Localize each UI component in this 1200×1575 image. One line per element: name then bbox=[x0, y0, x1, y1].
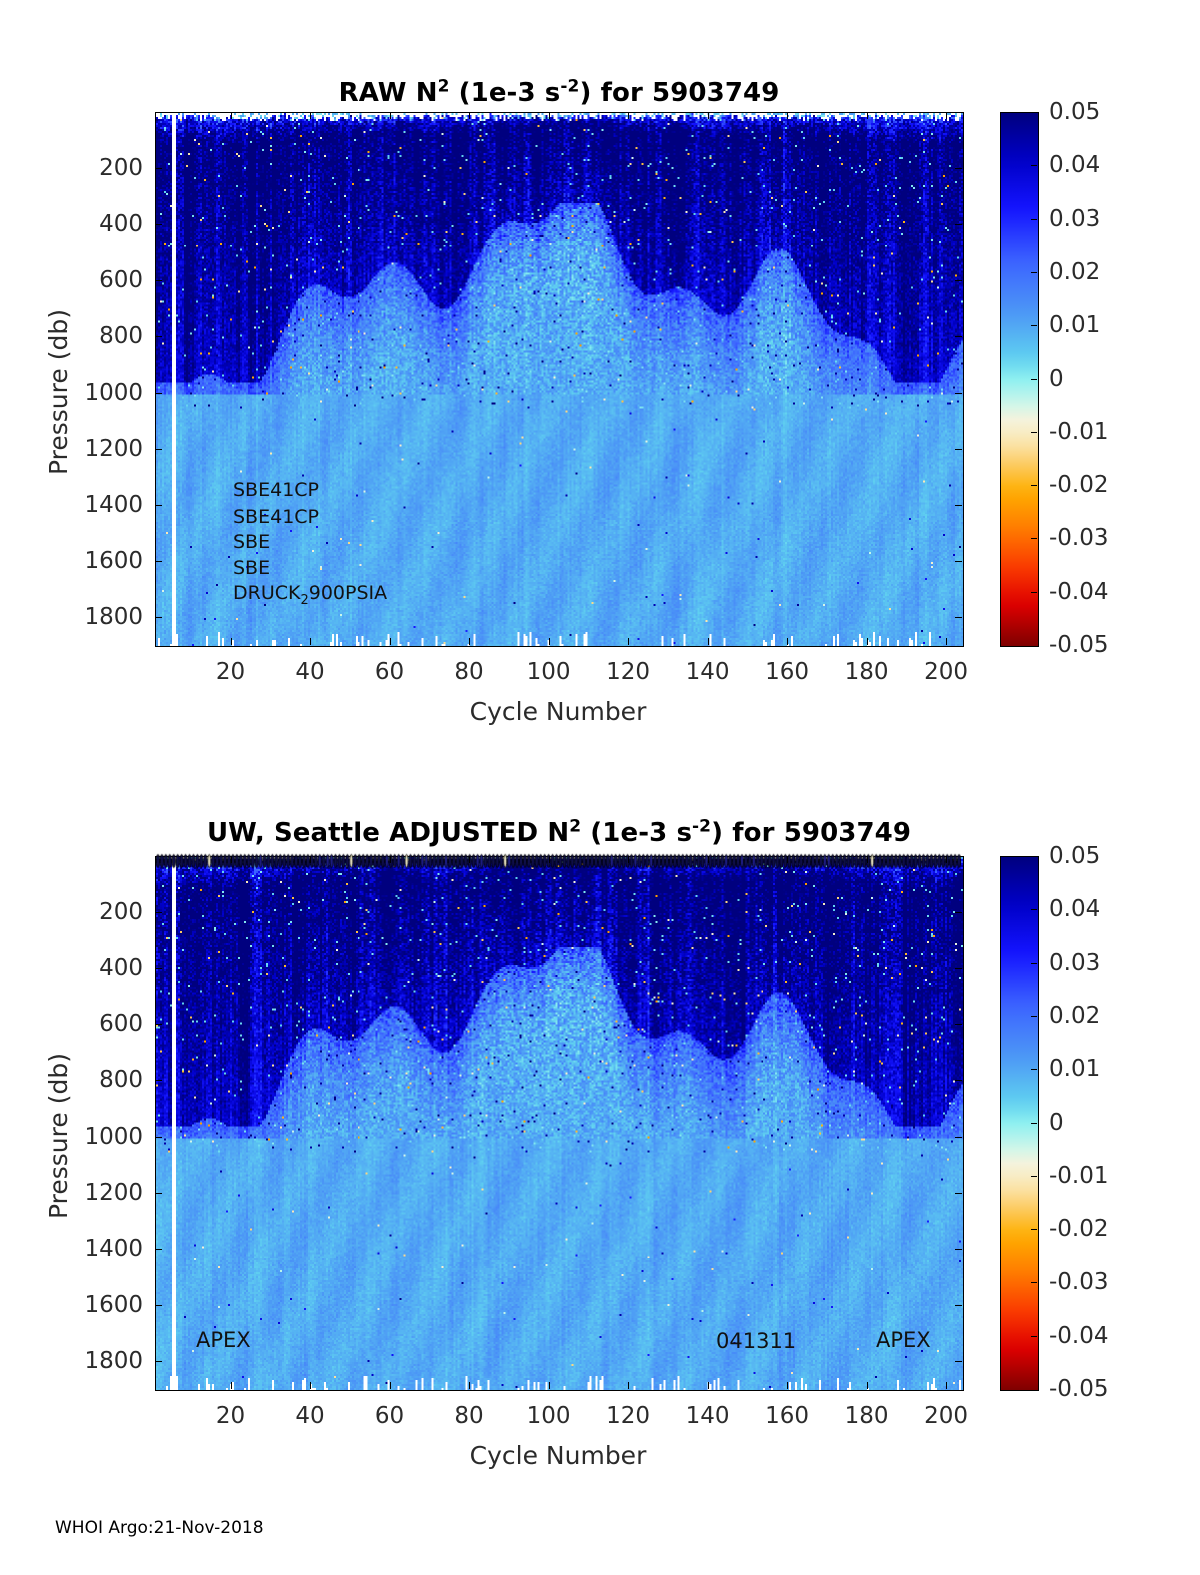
raw-y-tick-mark-400 bbox=[955, 224, 962, 225]
adj-x-tick-mark-140 bbox=[708, 1382, 709, 1389]
adj-colorbar-tick-label-0: 0.05 bbox=[1049, 843, 1100, 869]
raw-y-tick-mark-200 bbox=[155, 168, 162, 169]
adj-x-tick-label-200: 200 bbox=[924, 1403, 968, 1429]
adj-y-tick-label-400: 400 bbox=[3, 955, 143, 981]
adj-colorbar-tick-mark-7 bbox=[1031, 1229, 1037, 1230]
adj-y-tick-label-1600: 1600 bbox=[3, 1292, 143, 1318]
adj-y-tick-label-1400: 1400 bbox=[3, 1236, 143, 1262]
adj-colorbar-tick-label-10: -0.05 bbox=[1049, 1376, 1109, 1402]
adj-x-tick-mark-40 bbox=[310, 1382, 311, 1389]
adj-y-tick-label-200: 200 bbox=[3, 899, 143, 925]
raw-x-tick-label-40: 40 bbox=[295, 659, 324, 685]
adj-y-tick-label-800: 800 bbox=[3, 1067, 143, 1093]
adjusted-annotation-wmo-code: 041311 bbox=[716, 1329, 796, 1353]
adj-x-tick-label-80: 80 bbox=[454, 1403, 483, 1429]
adj-x-tick-mark-200 bbox=[946, 1382, 947, 1389]
raw-y-tick-mark-800 bbox=[155, 336, 162, 337]
adj-x-tick-label-40: 40 bbox=[295, 1403, 324, 1429]
adj-x-tick-mark-160 bbox=[787, 1382, 788, 1389]
raw-annotation-sensor-2: SBE41CP bbox=[233, 506, 319, 528]
adj-x-tick-label-180: 180 bbox=[845, 1403, 889, 1429]
raw-y-tick-mark-200 bbox=[955, 168, 962, 169]
raw-x-tick-label-160: 160 bbox=[765, 659, 809, 685]
adj-y-tick-mark-1600 bbox=[155, 1305, 162, 1306]
adj-y-tick-mark-1400 bbox=[955, 1249, 962, 1250]
raw-x-tick-mark-40 bbox=[310, 112, 311, 119]
adj-y-tick-label-1200: 1200 bbox=[3, 1180, 143, 1206]
raw-y-tick-label-800: 800 bbox=[3, 323, 143, 349]
raw-x-tick-label-200: 200 bbox=[924, 659, 968, 685]
raw-annotation-sensor-3: SBE bbox=[233, 531, 270, 553]
raw-colorbar-tick-mark-3 bbox=[1031, 272, 1037, 273]
adj-y-tick-mark-1600 bbox=[955, 1305, 962, 1306]
adj-colorbar-tick-label-6: -0.01 bbox=[1049, 1163, 1109, 1189]
adj-colorbar-tick-mark-6 bbox=[1031, 1176, 1037, 1177]
adj-colorbar-tick-mark-9 bbox=[1031, 1336, 1037, 1337]
raw-colorbar-tick-label-9: -0.04 bbox=[1049, 579, 1109, 605]
adj-x-tick-mark-180 bbox=[867, 1382, 868, 1389]
adj-colorbar-tick-mark-3 bbox=[1031, 1016, 1037, 1017]
raw-colorbar-tick-mark-1 bbox=[1031, 165, 1037, 166]
raw-annotation-druck-text: DRUCK bbox=[233, 582, 300, 604]
adj-y-tick-label-600: 600 bbox=[3, 1011, 143, 1037]
raw-y-tick-mark-1400 bbox=[955, 505, 962, 506]
adj-x-tick-mark-80 bbox=[469, 856, 470, 863]
raw-colorbar-tick-label-5: 0 bbox=[1049, 366, 1064, 392]
adj-x-tick-mark-60 bbox=[390, 856, 391, 863]
raw-colorbar-tick-label-4: 0.01 bbox=[1049, 312, 1100, 338]
adj-colorbar-tick-mark-5 bbox=[1031, 1123, 1037, 1124]
adj-colorbar-tick-label-8: -0.03 bbox=[1049, 1269, 1109, 1295]
adjusted-plot-title: UW, Seattle ADJUSTED N2 (1e-3 s-2) for 5… bbox=[155, 818, 963, 848]
raw-y-tick-label-1600: 1600 bbox=[3, 548, 143, 574]
raw-x-tick-mark-120 bbox=[628, 638, 629, 645]
adj-y-tick-mark-800 bbox=[155, 1080, 162, 1081]
adjusted-axes[interactable] bbox=[155, 856, 964, 1391]
adjusted-qc-marker-strip bbox=[156, 853, 961, 869]
raw-x-tick-mark-80 bbox=[469, 638, 470, 645]
raw-colorbar-tick-mark-6 bbox=[1031, 432, 1037, 433]
adj-x-tick-mark-100 bbox=[549, 856, 550, 863]
adj-y-tick-mark-1800 bbox=[155, 1361, 162, 1362]
adj-x-tick-label-160: 160 bbox=[765, 1403, 809, 1429]
adj-y-tick-mark-200 bbox=[955, 912, 962, 913]
raw-colorbar-tick-label-7: -0.02 bbox=[1049, 472, 1109, 498]
raw-x-tick-mark-200 bbox=[946, 638, 947, 645]
raw-colorbar-tick-label-10: -0.05 bbox=[1049, 632, 1109, 658]
raw-colorbar-tick-mark-8 bbox=[1031, 538, 1037, 539]
adj-y-tick-mark-600 bbox=[955, 1024, 962, 1025]
adj-colorbar-tick-label-1: 0.04 bbox=[1049, 896, 1100, 922]
raw-annotation-druck-sub: 2 bbox=[300, 593, 308, 608]
raw-x-tick-label-20: 20 bbox=[216, 659, 245, 685]
raw-y-tick-mark-1400 bbox=[155, 505, 162, 506]
adjusted-x-axis-label: Cycle Number bbox=[470, 1441, 647, 1470]
adj-colorbar-tick-label-5: 0 bbox=[1049, 1110, 1064, 1136]
raw-x-tick-label-60: 60 bbox=[375, 659, 404, 685]
adj-colorbar-tick-label-4: 0.01 bbox=[1049, 1056, 1100, 1082]
raw-colorbar-tick-label-0: 0.05 bbox=[1049, 99, 1100, 125]
raw-colorbar-tick-mark-2 bbox=[1031, 219, 1037, 220]
adj-y-tick-label-1800: 1800 bbox=[3, 1348, 143, 1374]
adj-x-tick-label-100: 100 bbox=[527, 1403, 571, 1429]
adj-x-tick-mark-120 bbox=[628, 856, 629, 863]
raw-colorbar-tick-label-8: -0.03 bbox=[1049, 525, 1109, 551]
adj-x-tick-mark-180 bbox=[867, 856, 868, 863]
raw-title-prefix: RAW N bbox=[339, 78, 438, 108]
raw-y-tick-label-600: 600 bbox=[3, 267, 143, 293]
raw-y-tick-mark-1000 bbox=[155, 393, 162, 394]
raw-colorbar-tick-label-2: 0.03 bbox=[1049, 206, 1100, 232]
raw-y-tick-mark-1000 bbox=[955, 393, 962, 394]
adj-y-tick-mark-1800 bbox=[955, 1361, 962, 1362]
raw-colorbar-tick-label-1: 0.04 bbox=[1049, 152, 1100, 178]
adj-y-tick-mark-1200 bbox=[955, 1193, 962, 1194]
raw-y-tick-label-1200: 1200 bbox=[3, 436, 143, 462]
raw-y-tick-mark-400 bbox=[155, 224, 162, 225]
adj-y-tick-mark-400 bbox=[155, 968, 162, 969]
raw-x-tick-mark-140 bbox=[708, 638, 709, 645]
raw-x-tick-mark-20 bbox=[231, 112, 232, 119]
raw-y-tick-mark-1200 bbox=[155, 449, 162, 450]
raw-heatmap bbox=[156, 113, 963, 646]
adj-x-tick-mark-80 bbox=[469, 1382, 470, 1389]
raw-y-tick-mark-1800 bbox=[955, 617, 962, 618]
raw-y-tick-mark-1600 bbox=[955, 561, 962, 562]
raw-axes[interactable] bbox=[155, 112, 964, 647]
adj-x-tick-mark-40 bbox=[310, 856, 311, 863]
adj-x-tick-label-140: 140 bbox=[686, 1403, 730, 1429]
raw-y-tick-mark-1800 bbox=[155, 617, 162, 618]
adj-x-tick-mark-60 bbox=[390, 1382, 391, 1389]
raw-title-sup1: 2 bbox=[438, 76, 450, 96]
adjusted-annotation-platform-left: APEX bbox=[196, 1328, 251, 1352]
adj-x-tick-mark-100 bbox=[549, 1382, 550, 1389]
raw-x-tick-mark-160 bbox=[787, 638, 788, 645]
raw-x-tick-mark-80 bbox=[469, 112, 470, 119]
adjusted-title-sup1: 2 bbox=[569, 816, 581, 836]
raw-y-tick-label-400: 400 bbox=[3, 211, 143, 237]
adjusted-title-suffix: ) for 5903749 bbox=[711, 818, 911, 848]
raw-x-tick-mark-40 bbox=[310, 638, 311, 645]
raw-y-tick-mark-600 bbox=[155, 280, 162, 281]
raw-x-tick-label-120: 120 bbox=[606, 659, 650, 685]
raw-x-tick-mark-20 bbox=[231, 638, 232, 645]
raw-annotation-sensor-1: SBE41CP bbox=[233, 479, 319, 501]
raw-annotation-pressure-sensor: DRUCK2900PSIA bbox=[233, 582, 387, 604]
adj-x-tick-mark-140 bbox=[708, 856, 709, 863]
raw-x-tick-mark-100 bbox=[549, 638, 550, 645]
adj-colorbar-tick-label-2: 0.03 bbox=[1049, 950, 1100, 976]
raw-colorbar-tick-mark-7 bbox=[1031, 485, 1037, 486]
raw-x-tick-label-180: 180 bbox=[845, 659, 889, 685]
adj-x-tick-label-120: 120 bbox=[606, 1403, 650, 1429]
raw-y-tick-label-1800: 1800 bbox=[3, 604, 143, 630]
raw-y-tick-label-200: 200 bbox=[3, 155, 143, 181]
adj-colorbar-tick-label-9: -0.04 bbox=[1049, 1323, 1109, 1349]
adj-colorbar-tick-label-7: -0.02 bbox=[1049, 1216, 1109, 1242]
adj-colorbar-tick-mark-8 bbox=[1031, 1282, 1037, 1283]
raw-x-tick-mark-120 bbox=[628, 112, 629, 119]
adj-x-tick-mark-120 bbox=[628, 1382, 629, 1389]
raw-x-tick-mark-140 bbox=[708, 112, 709, 119]
raw-colorbar-tick-mark-5 bbox=[1031, 379, 1037, 380]
adj-colorbar-tick-mark-2 bbox=[1031, 963, 1037, 964]
raw-x-tick-mark-180 bbox=[867, 112, 868, 119]
adj-x-tick-mark-20 bbox=[231, 856, 232, 863]
raw-x-tick-mark-60 bbox=[390, 112, 391, 119]
adj-colorbar-tick-mark-4 bbox=[1031, 1069, 1037, 1070]
adjusted-title-mid: (1e-3 s bbox=[581, 818, 692, 848]
adjusted-annotation-platform-right: APEX bbox=[876, 1328, 931, 1352]
raw-x-tick-mark-180 bbox=[867, 638, 868, 645]
raw-colorbar-tick-mark-4 bbox=[1031, 325, 1037, 326]
adj-x-tick-mark-200 bbox=[946, 856, 947, 863]
adj-y-tick-mark-1000 bbox=[955, 1137, 962, 1138]
adj-x-tick-mark-160 bbox=[787, 856, 788, 863]
raw-x-tick-label-100: 100 bbox=[527, 659, 571, 685]
adj-x-tick-label-20: 20 bbox=[216, 1403, 245, 1429]
figure-footer: WHOI Argo:21-Nov-2018 bbox=[55, 1518, 264, 1538]
adj-x-tick-label-60: 60 bbox=[375, 1403, 404, 1429]
raw-x-tick-mark-60 bbox=[390, 638, 391, 645]
raw-title-mid: (1e-3 s bbox=[450, 78, 561, 108]
raw-x-tick-label-80: 80 bbox=[454, 659, 483, 685]
adj-y-tick-mark-1400 bbox=[155, 1249, 162, 1250]
adj-y-tick-mark-200 bbox=[155, 912, 162, 913]
raw-title-suffix: ) for 5903749 bbox=[579, 78, 779, 108]
adjusted-heatmap bbox=[156, 857, 963, 1390]
adj-y-tick-mark-800 bbox=[955, 1080, 962, 1081]
raw-colorbar-tick-label-3: 0.02 bbox=[1049, 259, 1100, 285]
raw-title-sup2: -2 bbox=[560, 76, 579, 96]
adj-y-tick-mark-400 bbox=[955, 968, 962, 969]
adj-colorbar-tick-mark-1 bbox=[1031, 909, 1037, 910]
raw-annotation-sensor-4: SBE bbox=[233, 557, 270, 579]
adj-x-tick-mark-20 bbox=[231, 1382, 232, 1389]
raw-x-axis-label: Cycle Number bbox=[470, 697, 647, 726]
raw-y-tick-label-1000: 1000 bbox=[3, 380, 143, 406]
raw-x-tick-mark-100 bbox=[549, 112, 550, 119]
raw-y-tick-mark-800 bbox=[955, 336, 962, 337]
adj-y-tick-label-1000: 1000 bbox=[3, 1124, 143, 1150]
adj-y-tick-mark-1000 bbox=[155, 1137, 162, 1138]
raw-x-tick-mark-200 bbox=[946, 112, 947, 119]
raw-colorbar-tick-mark-9 bbox=[1031, 592, 1037, 593]
raw-plot-title: RAW N2 (1e-3 s-2) for 5903749 bbox=[155, 78, 963, 108]
raw-y-tick-label-1400: 1400 bbox=[3, 492, 143, 518]
adj-y-tick-mark-600 bbox=[155, 1024, 162, 1025]
raw-colorbar-tick-label-6: -0.01 bbox=[1049, 419, 1109, 445]
adj-y-tick-mark-1200 bbox=[155, 1193, 162, 1194]
raw-x-tick-mark-160 bbox=[787, 112, 788, 119]
raw-annotation-druck-after: 900PSIA bbox=[309, 582, 387, 604]
raw-y-tick-mark-1200 bbox=[955, 449, 962, 450]
adjusted-title-prefix: UW, Seattle ADJUSTED N bbox=[207, 818, 569, 848]
adj-colorbar-tick-label-3: 0.02 bbox=[1049, 1003, 1100, 1029]
raw-x-tick-label-140: 140 bbox=[686, 659, 730, 685]
raw-y-tick-mark-600 bbox=[955, 280, 962, 281]
raw-y-tick-mark-1600 bbox=[155, 561, 162, 562]
adjusted-title-sup2: -2 bbox=[692, 816, 711, 836]
